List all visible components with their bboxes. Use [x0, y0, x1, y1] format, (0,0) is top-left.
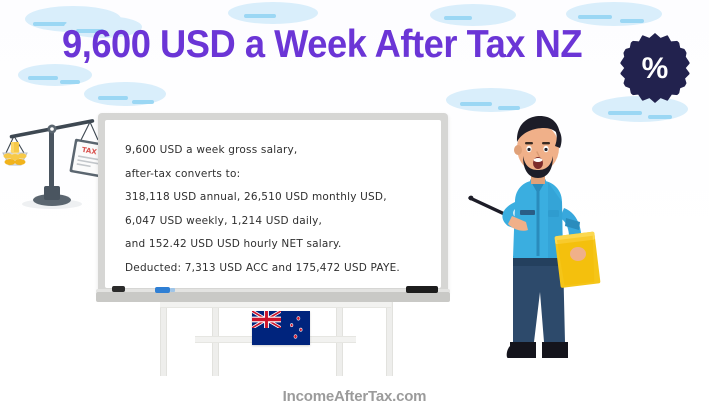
percent-symbol: % [620, 33, 690, 103]
whiteboard-line-4: 6,047 USD weekly, 1,214 USD daily, [125, 210, 431, 234]
whiteboard-surface: 9,600 USD a week gross salary, after-tax… [105, 120, 441, 288]
infographic-canvas: 9,600 USD a Week After Tax NZ % [0, 0, 709, 419]
new-zealand-flag-icon [252, 311, 310, 345]
percent-badge-icon: % [620, 33, 690, 103]
eraser-icon [112, 286, 125, 292]
site-footer: IncomeAfterTax.com [0, 388, 709, 405]
whiteboard-crossbar-top [160, 301, 391, 308]
whiteboard-text: 9,600 USD a week gross salary, after-tax… [125, 139, 431, 280]
whiteboard-frame: 9,600 USD a week gross salary, after-tax… [98, 113, 448, 295]
whiteboard-tray [96, 292, 450, 302]
whiteboard-line-6: Deducted: 7,313 USD ACC and 175,472 USD … [125, 257, 431, 281]
whiteboard-leg-left [160, 300, 167, 376]
whiteboard-line-3: 318,118 USD annual, 26,510 USD monthly U… [125, 186, 431, 210]
whiteboard-leg-right [386, 300, 393, 376]
black-marker-icon [406, 286, 438, 293]
page-title: 9,600 USD a Week After Tax NZ [62, 22, 583, 68]
whiteboard-line-1: 9,600 USD a week gross salary, [125, 139, 431, 163]
cloud-4 [84, 82, 166, 106]
balance-scales-icon: TAX [2, 112, 102, 212]
whiteboard-line-2: after-tax converts to: [125, 163, 431, 187]
teacher-presenter-illustration [468, 106, 608, 384]
blue-marker-icon [155, 287, 170, 293]
whiteboard-line-5: and 152.42 USD USD hourly NET salary. [125, 233, 431, 257]
cloud-5 [228, 2, 318, 24]
